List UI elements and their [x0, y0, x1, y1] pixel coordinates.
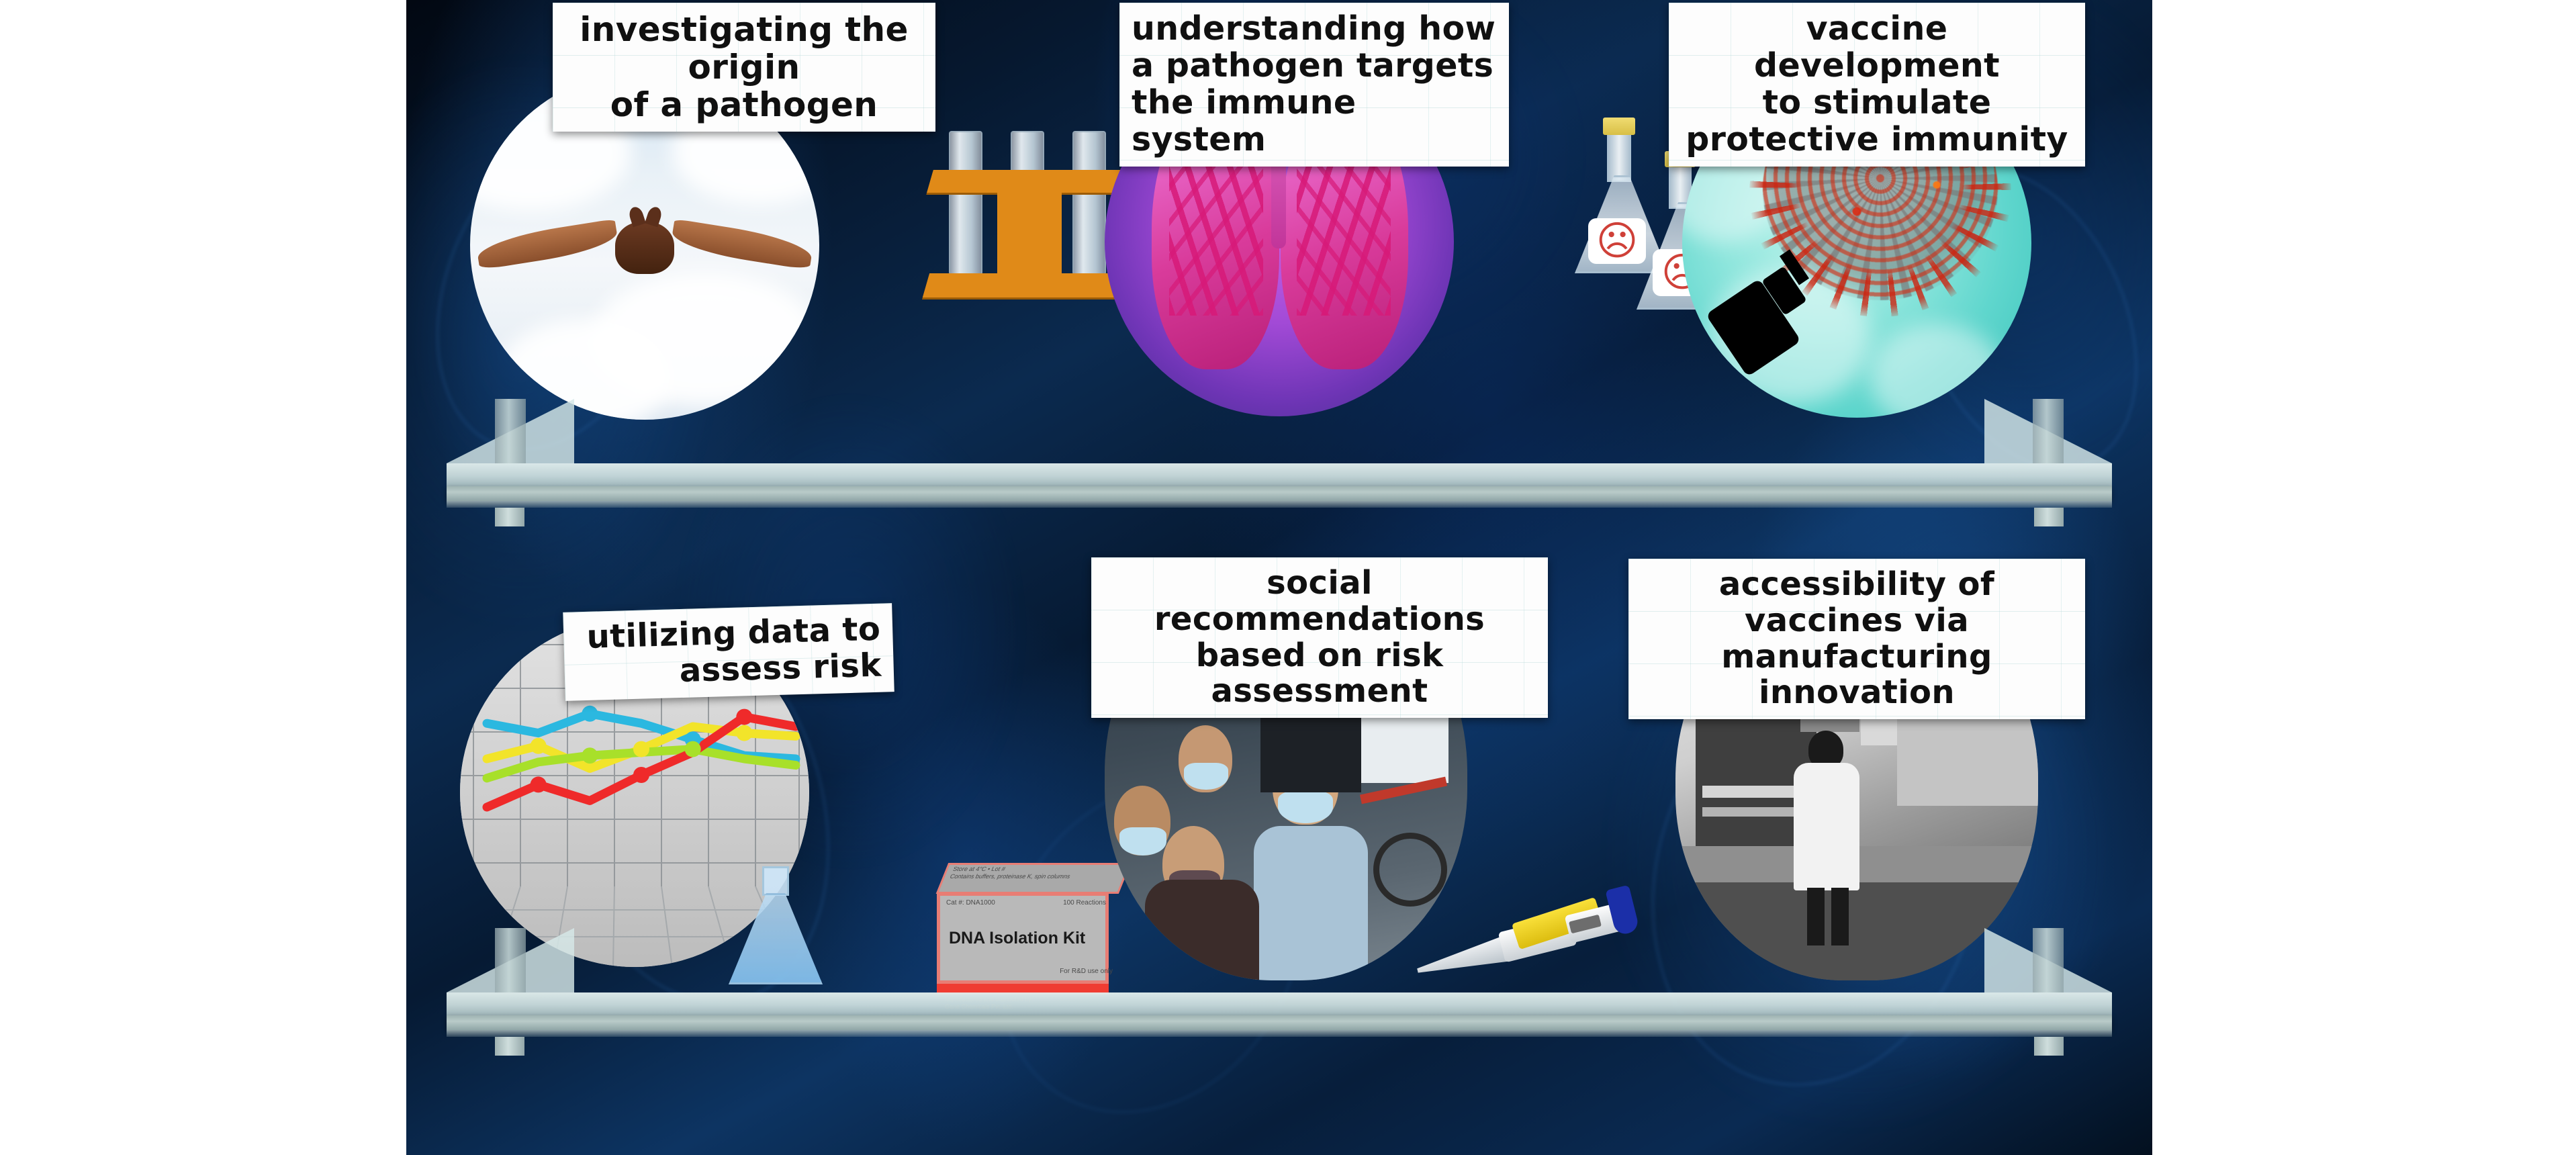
bronchial-tree-right [1297, 141, 1391, 316]
floor [1675, 882, 2038, 980]
shelf-foot [495, 1037, 524, 1056]
hazard-mask-label: ☹ [1588, 218, 1646, 264]
label-investigating-origin: investigating the origin of a pathogen [553, 3, 935, 132]
label-pathogen-immune-system: understanding how a pathogen targets the… [1119, 3, 1509, 167]
technician-leg [1807, 888, 1825, 945]
dna-isolation-kit-box: Store at 4°C • Lot # Contains buffers, p… [937, 863, 1125, 1011]
blue-beaker [729, 866, 823, 987]
shelf-edge [447, 1015, 2112, 1030]
pipette-tip [1414, 935, 1512, 984]
shelf-post [2033, 928, 2064, 992]
label-social-recommendations: social recommendations based on risk ass… [1091, 557, 1548, 718]
bat-icon [477, 215, 813, 309]
beaker-body [729, 893, 823, 984]
technician-leg [1831, 888, 1849, 945]
kit-top-print: Store at 4°C • Lot # Contains buffers, p… [948, 866, 1115, 881]
kit-title: DNA Isolation Kit [949, 929, 1085, 948]
person-torso [1254, 826, 1368, 980]
test-tube [1072, 131, 1106, 285]
label-accessibility-vaccines: accessibility of vaccines via manufactur… [1628, 559, 2085, 719]
shelf-glass-top [447, 463, 2112, 486]
bronchial-tree-left [1169, 141, 1263, 316]
shelf-edge [447, 486, 2112, 501]
rack-upper-bar [927, 170, 1128, 193]
shelf-foot [495, 508, 524, 526]
shelf-post [2033, 399, 2064, 463]
kit-reactions: 100 Reactions [1063, 899, 1106, 907]
label-utilizing-data: utilizing data to assess risk [563, 603, 894, 700]
frowning-mask-icon: ☹ [1596, 221, 1639, 261]
kit-use-note: For R&D use only [1060, 968, 1113, 975]
flask-neck [1607, 131, 1631, 182]
shelf-foot [2034, 508, 2064, 526]
shelf-foot [2034, 1037, 2064, 1056]
figure-canvas: ☹ ☹ [0, 0, 2576, 1155]
test-tube [949, 131, 982, 285]
beaker-neck [762, 866, 789, 896]
person-torso [1145, 880, 1259, 980]
test-tube-rack [930, 131, 1132, 332]
rack-lower-bar [923, 273, 1131, 297]
shelf-post [495, 399, 526, 463]
rack-spine [997, 193, 1062, 280]
technician-lab-coat [1794, 763, 1859, 890]
shelf-post [495, 928, 526, 992]
shelf-glass-top [447, 992, 2112, 1015]
flask-cork [1603, 118, 1635, 135]
lower-glass-shelf [447, 992, 2112, 1037]
shelf-underside [447, 501, 2112, 508]
bicycle-wheel [1373, 833, 1447, 907]
marbled-background: ☹ ☹ [406, 0, 2152, 1155]
kit-catalog: Cat #: DNA1000 [946, 899, 995, 907]
label-vaccine-development: vaccine development to stimulate protect… [1669, 3, 2085, 167]
shelf-underside [447, 1030, 2112, 1037]
upper-glass-shelf [447, 463, 2112, 508]
